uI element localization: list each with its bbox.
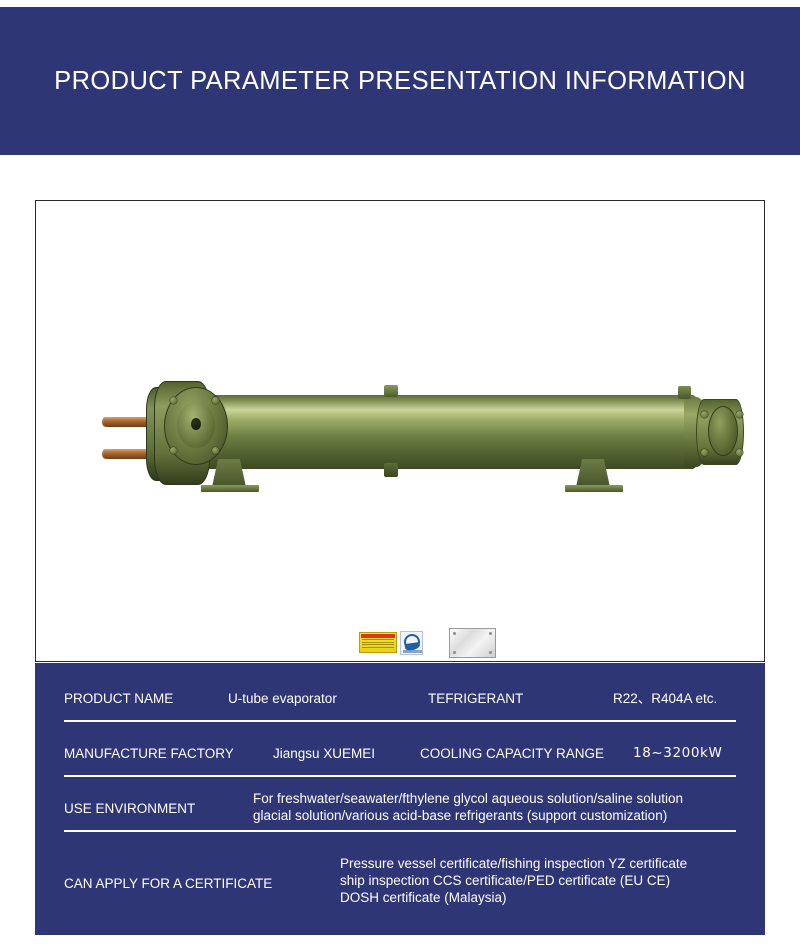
spec-value-certificate-line1: Pressure vessel certificate/fishing insp…: [340, 855, 760, 872]
warning-label: [359, 632, 397, 653]
spec-value-product-name: U-tube evaporator: [228, 690, 337, 707]
spec-row-separator: [64, 720, 736, 722]
product-image-frame: [35, 200, 765, 662]
spec-value-certificate-line3: DOSH certificate (Malaysia): [340, 889, 760, 906]
spec-value-certificate: Pressure vessel certificate/fishing insp…: [340, 855, 760, 906]
support-saddle-left-base: [201, 485, 259, 492]
left-flange-bolt: [170, 397, 177, 404]
spec-value-refrigerant: R22、R404A etc.: [613, 690, 717, 707]
evaporator-shell: [168, 395, 704, 469]
right-flange-bolt: [736, 411, 743, 418]
support-saddle-right-base: [565, 485, 623, 492]
right-flange-bolt: [736, 449, 743, 456]
spec-value-cooling-capacity-range: 18~3200kW: [633, 745, 722, 762]
spec-label-refrigerant: TEFRIGERANT: [428, 690, 523, 707]
spec-row-separator: [64, 830, 736, 832]
certification-sticker: [400, 631, 423, 655]
spec-value-use-environment-line2: glacial solution/various acid-base refri…: [253, 807, 753, 824]
spec-label-use-environment: USE ENVIRONMENT: [64, 800, 195, 817]
left-flange-bolt: [212, 397, 219, 404]
left-flange-bolt: [170, 447, 177, 454]
spec-label-product-name: PRODUCT NAME: [64, 690, 173, 707]
product-illustration: [36, 201, 764, 661]
spec-row-separator: [64, 775, 736, 777]
spec-value-use-environment: For freshwater/seawater/fthylene glycol …: [253, 790, 753, 824]
right-end-flange-face: [708, 406, 738, 456]
top-nozzle: [384, 385, 398, 397]
spec-label-cooling-capacity-range: COOLING CAPACITY RANGE: [420, 745, 604, 762]
spec-value-use-environment-line1: For freshwater/seawater/fthylene glycol …: [253, 790, 753, 807]
bottom-nozzle: [384, 463, 398, 477]
left-head-center-port: [191, 418, 201, 430]
spec-value-manufacture-factory: Jiangsu XUEMEI: [273, 745, 375, 762]
specification-table: PRODUCT NAME U-tube evaporator TEFRIGERA…: [35, 663, 765, 935]
product-nameplate: [449, 628, 496, 658]
right-flange-bolt: [701, 449, 708, 456]
right-top-nozzle: [678, 386, 691, 399]
page-title: PRODUCT PARAMETER PRESENTATION INFORMATI…: [54, 67, 746, 96]
right-flange-bolt: [701, 411, 708, 418]
spec-value-certificate-line2: ship inspection CCS certificate/PED cert…: [340, 872, 760, 889]
spec-label-manufacture-factory: MANUFACTURE FACTORY: [64, 745, 234, 762]
page-header: PRODUCT PARAMETER PRESENTATION INFORMATI…: [0, 7, 800, 155]
left-flange-bolt: [212, 447, 219, 454]
spec-label-certificate: CAN APPLY FOR A CERTIFICATE: [64, 875, 272, 892]
